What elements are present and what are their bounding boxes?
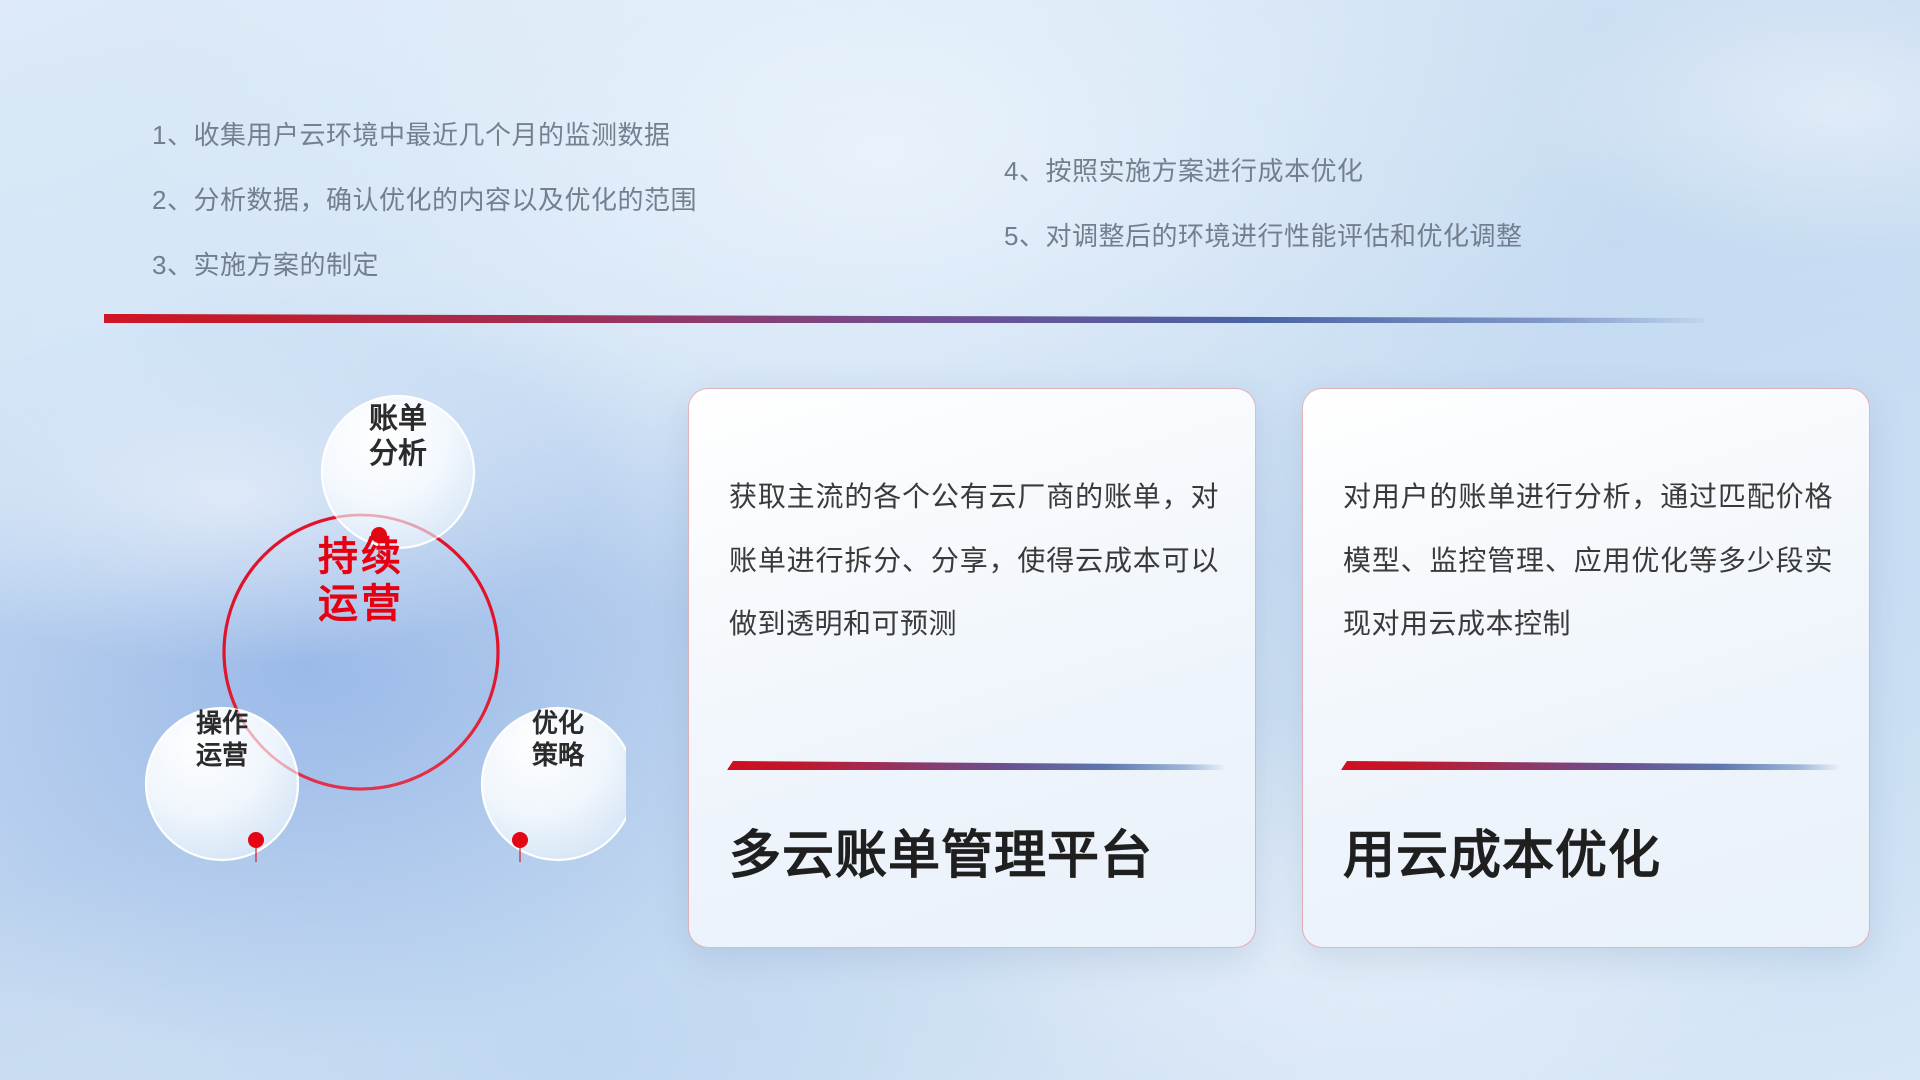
process-step: 1、收集用户云环境中最近几个月的监测数据: [152, 122, 697, 148]
venn-label-center: 持续 运营: [271, 534, 451, 628]
venn-label-line: 运营: [271, 581, 451, 628]
process-step: 3、实施方案的制定: [152, 252, 697, 278]
feature-card[interactable]: 获取主流的各个公有云厂商的账单，对账单进行拆分、分享，使得云成本可以做到透明和可…: [688, 388, 1256, 948]
feature-card-description: 对用户的账单进行分析，通过匹配价格模型、监控管理、应用优化等多少段实现对用云成本…: [1343, 465, 1833, 656]
venn-label-line: 运营: [132, 740, 312, 772]
feature-card-divider: [727, 761, 1225, 770]
venn-label-line: 优化: [468, 708, 648, 740]
slide-canvas: 1、收集用户云环境中最近几个月的监测数据 2、分析数据，确认优化的内容以及优化的…: [0, 0, 1920, 1080]
venn-label-left: 操作 运营: [132, 708, 312, 771]
venn-label-line: 持续: [271, 534, 451, 581]
feature-card-description: 获取主流的各个公有云厂商的账单，对账单进行拆分、分享，使得云成本可以做到透明和可…: [729, 465, 1219, 656]
venn-label-line: 操作: [132, 708, 312, 740]
feature-card-title: 多云账单管理平台: [729, 813, 1225, 888]
process-step: 5、对调整后的环境进行性能评估和优化调整: [1004, 223, 1522, 249]
venn-label-line: 分析: [308, 437, 488, 472]
divider-bar: [104, 314, 1704, 323]
process-step: 2、分析数据，确认优化的内容以及优化的范围: [152, 187, 697, 213]
process-steps-right: 4、按照实施方案进行成本优化 5、对调整后的环境进行性能评估和优化调整: [1004, 158, 1522, 288]
feature-card-title: 用云成本优化: [1343, 813, 1839, 888]
venn-label-right: 优化 策略: [468, 708, 648, 771]
feature-card[interactable]: 对用户的账单进行分析，通过匹配价格模型、监控管理、应用优化等多少段实现对用云成本…: [1302, 388, 1870, 948]
feature-card-divider: [1341, 761, 1839, 770]
process-step: 4、按照实施方案进行成本优化: [1004, 158, 1522, 184]
venn-label-line: 账单: [308, 402, 488, 437]
section-divider-rule: [104, 314, 1704, 323]
venn-label-line: 策略: [468, 740, 648, 772]
venn-diagram: 账单 分析 持续 运营 操作 运营 优化 策略: [96, 352, 626, 932]
process-steps-left: 1、收集用户云环境中最近几个月的监测数据 2、分析数据，确认优化的内容以及优化的…: [152, 122, 697, 317]
venn-label-top: 账单 分析: [308, 402, 488, 473]
